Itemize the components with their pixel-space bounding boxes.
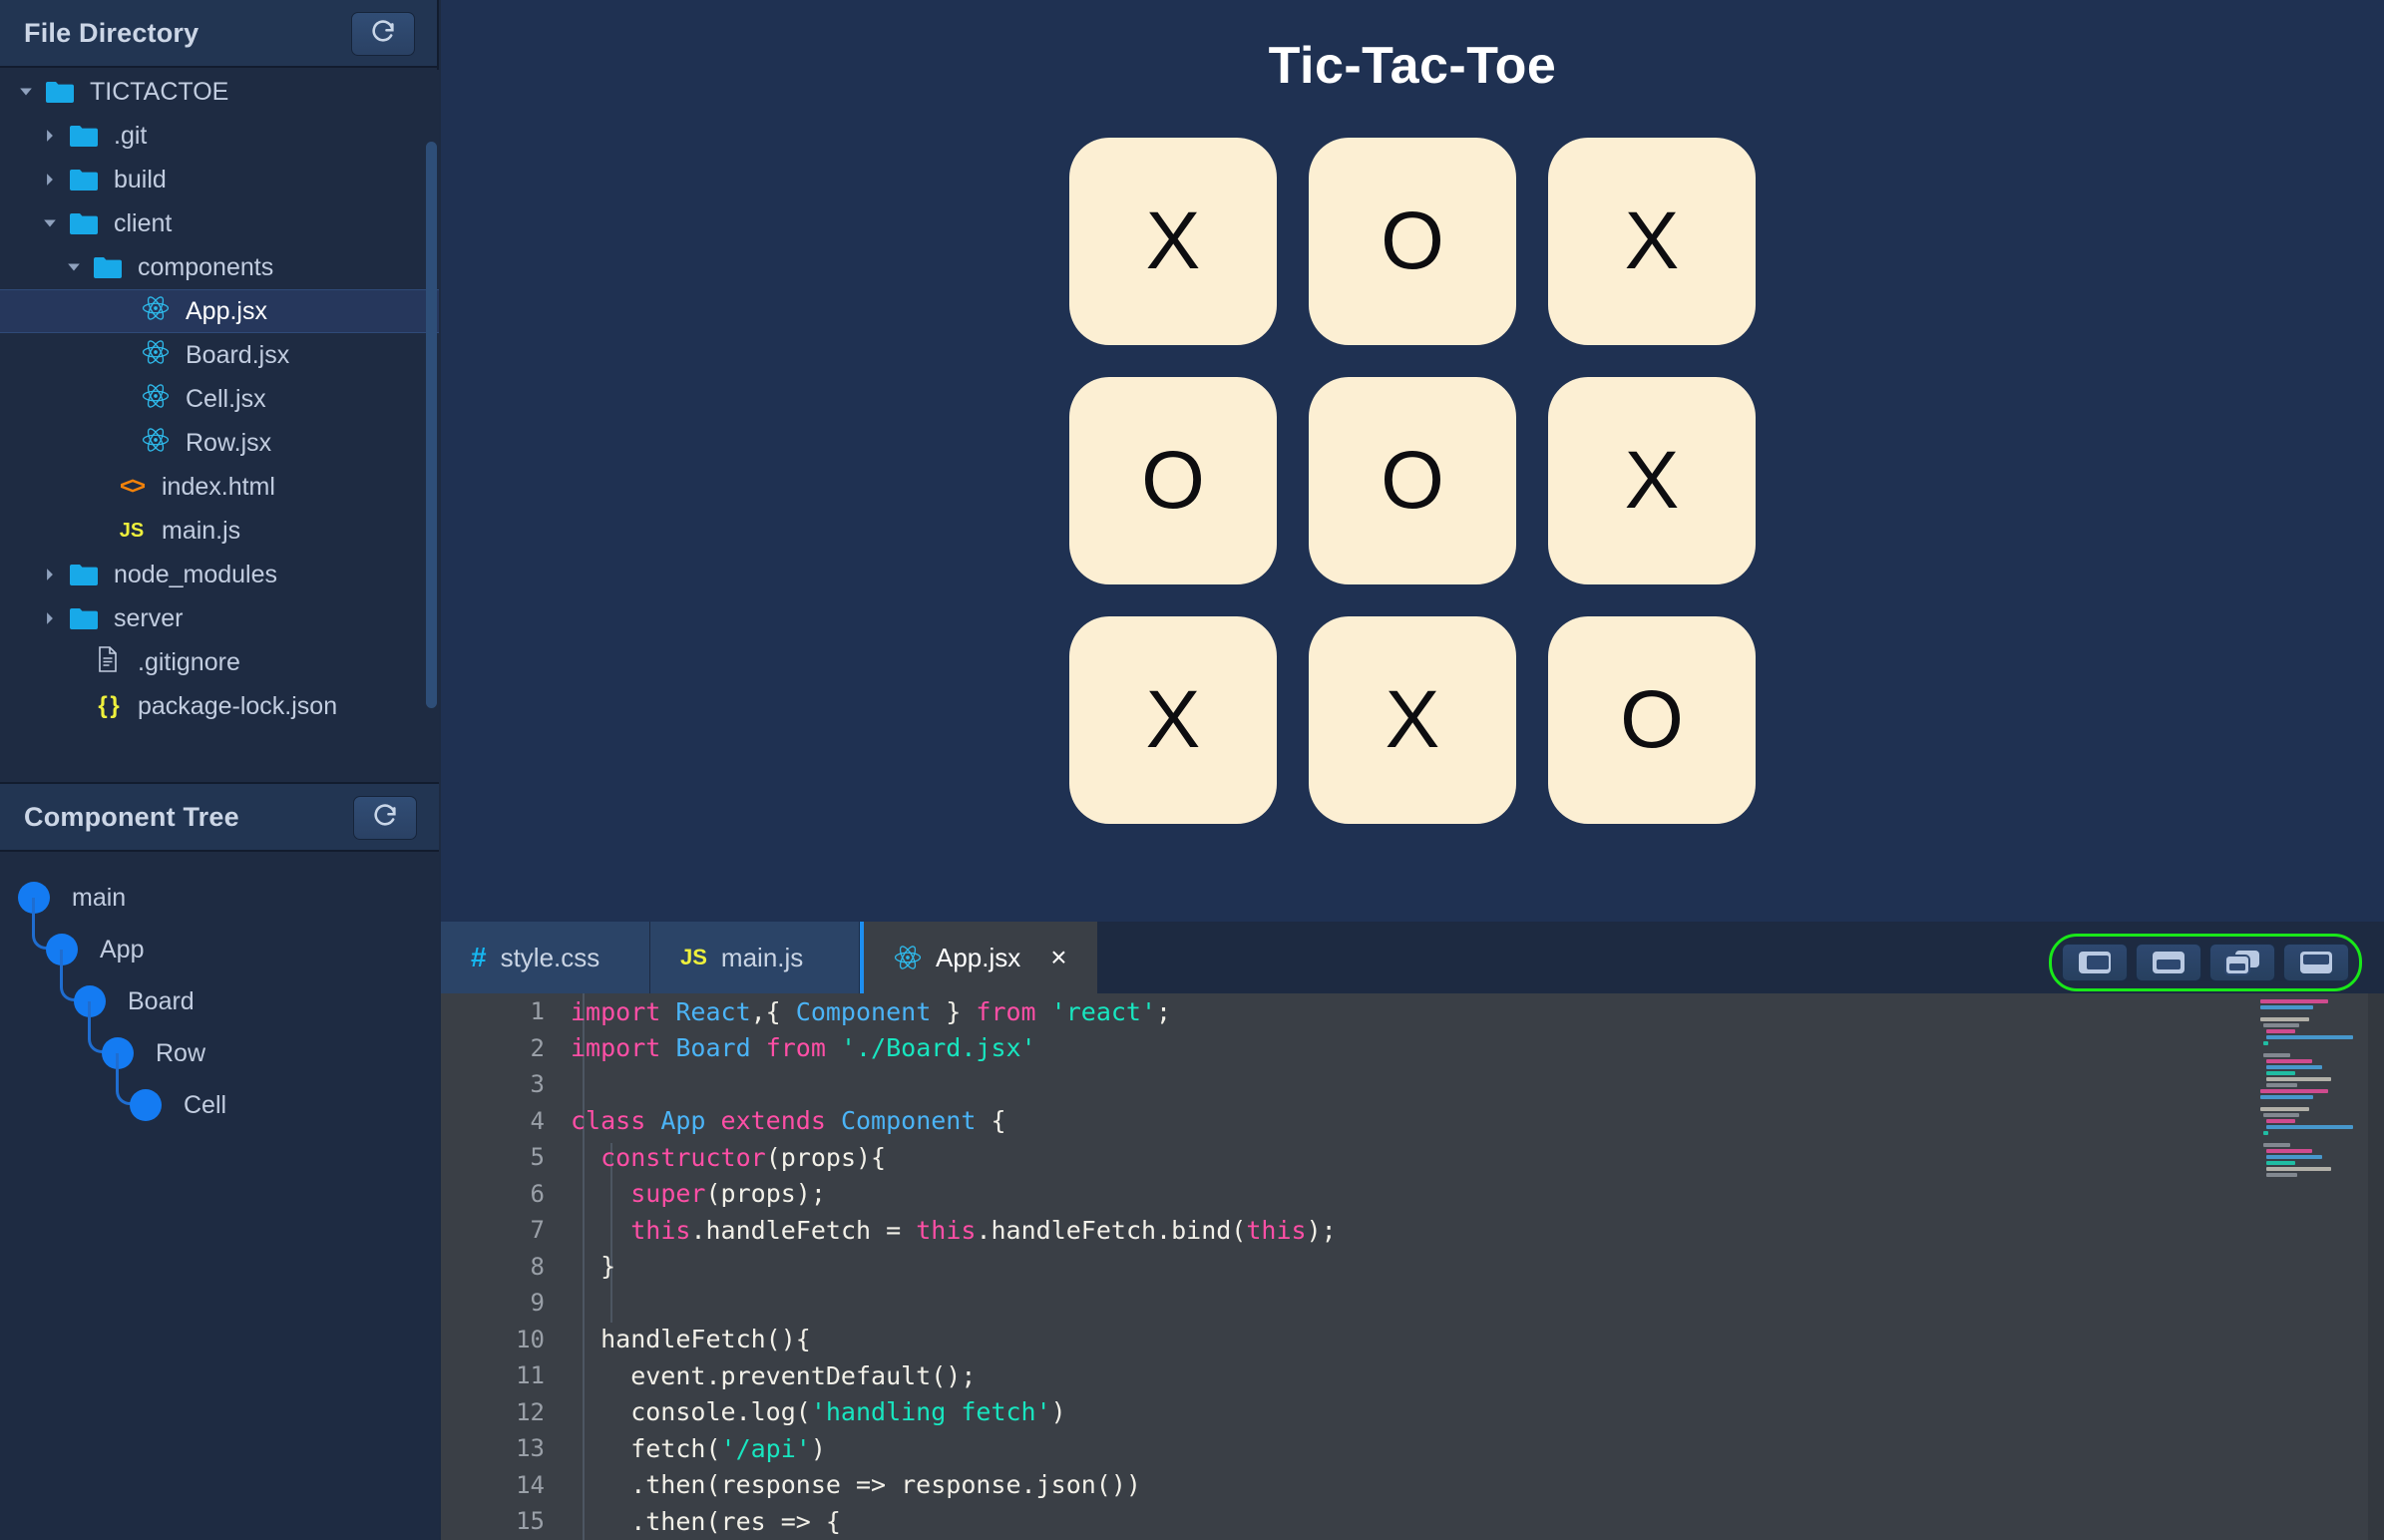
file-tree-item[interactable]: node_modules — [0, 553, 439, 596]
code-text: import Board from './Board.jsx' — [571, 1033, 1036, 1062]
node-dot-icon — [130, 1089, 162, 1121]
line-number: 12 — [441, 1398, 571, 1426]
code-text: console.log('handling fetch') — [571, 1397, 1066, 1426]
close-icon[interactable]: × — [1050, 942, 1066, 973]
refresh-icon — [369, 18, 397, 51]
code-text: import React,{ Component } from 'react'; — [571, 997, 1171, 1026]
component-tree-node-label: Board — [128, 987, 195, 1016]
code-line: 2import Board from './Board.jsx' — [441, 1030, 2384, 1067]
react-icon — [136, 339, 176, 372]
component-tree-node[interactable]: Cell — [130, 1089, 226, 1121]
chevron-right-icon[interactable] — [36, 129, 64, 143]
file-directory-title: File Directory — [24, 18, 199, 49]
code-text: super(props); — [571, 1179, 826, 1208]
file-tree-item[interactable]: server — [0, 596, 439, 640]
code-text: fetch('/api') — [571, 1434, 826, 1463]
board-cell[interactable]: O — [1069, 377, 1277, 584]
refresh-icon — [371, 802, 399, 835]
editor-tab-label: main.js — [721, 943, 803, 973]
line-number: 14 — [441, 1471, 571, 1499]
editor-tab-label: style.css — [501, 943, 600, 973]
code-line: 8 } — [441, 1249, 2384, 1286]
file-tree-item[interactable]: .git — [0, 114, 439, 158]
file-tree-item[interactable]: <>index.html — [0, 465, 439, 509]
folder-icon — [64, 212, 104, 234]
html-icon: <> — [112, 473, 152, 501]
file-tree-item[interactable]: components — [0, 245, 439, 289]
chevron-down-icon[interactable] — [12, 85, 40, 99]
layout-split-editor-icon[interactable] — [2209, 944, 2275, 981]
component-tree-panel: Component Tree mainAppBoardRowCell — [0, 782, 439, 1540]
code-text: } — [571, 1252, 615, 1281]
file-tree-item-label: App.jsx — [186, 297, 267, 326]
layout-buttons-group — [2049, 934, 2362, 991]
code-text: constructor(props){ — [571, 1143, 886, 1172]
file-tree-item-label: Row.jsx — [186, 429, 271, 458]
component-tree-node-label: Row — [156, 1039, 205, 1068]
code-text: .then(res => { — [571, 1507, 841, 1536]
file-tree-item-label: main.js — [162, 517, 240, 546]
code-scrollbar[interactable] — [2368, 993, 2384, 1540]
file-tree-scrollbar[interactable] — [426, 142, 437, 708]
chevron-right-icon[interactable] — [36, 568, 64, 581]
chevron-down-icon[interactable] — [60, 260, 88, 274]
line-number: 15 — [441, 1507, 571, 1535]
code-editor-pane: #style.cssJSmain.jsApp.jsx× — [441, 922, 2384, 1540]
file-tree-item-label: TICTACTOE — [90, 78, 228, 107]
file-tree-item-label: components — [138, 253, 273, 282]
code-line: 10 handleFetch(){ — [441, 1322, 2384, 1358]
component-tree-node-label: Cell — [184, 1091, 226, 1120]
board-cell[interactable]: O — [1548, 616, 1756, 824]
board-cell[interactable]: X — [1309, 616, 1516, 824]
code-text: .then(response => response.json()) — [571, 1470, 1141, 1499]
editor-tab-bar: #style.cssJSmain.jsApp.jsx× — [441, 922, 2384, 993]
editor-tab[interactable]: #style.css — [441, 922, 650, 993]
file-tree-item[interactable]: .gitignore — [0, 640, 439, 684]
code-line: 5 constructor(props){ — [441, 1139, 2384, 1176]
component-tree-node-label: App — [100, 936, 144, 964]
component-tree-graph: mainAppBoardRowCell — [0, 852, 439, 1540]
file-tree-item-label: client — [114, 209, 172, 238]
code-text: handleFetch(){ — [571, 1325, 811, 1353]
code-line: 14 .then(response => response.json()) — [441, 1467, 2384, 1504]
react-icon — [136, 427, 176, 460]
file-tree-item-label: index.html — [162, 473, 275, 502]
chevron-down-icon[interactable] — [36, 216, 64, 230]
editor-tab[interactable]: JSmain.js — [650, 922, 860, 993]
code-line: 4class App extends Component { — [441, 1103, 2384, 1140]
file-tree-item[interactable]: Row.jsx — [0, 421, 439, 465]
file-tree-item[interactable]: Cell.jsx — [0, 377, 439, 421]
code-text: this.handleFetch = this.handleFetch.bind… — [571, 1216, 1337, 1245]
file-directory-refresh-button[interactable] — [351, 12, 415, 56]
chevron-right-icon[interactable] — [36, 611, 64, 625]
code-line: 12 console.log('handling fetch') — [441, 1394, 2384, 1431]
file-tree-item[interactable]: App.jsx — [0, 289, 439, 333]
line-number: 7 — [441, 1216, 571, 1244]
js-icon: JS — [680, 945, 707, 970]
file-directory-header: File Directory — [0, 0, 437, 68]
react-icon — [136, 295, 176, 328]
code-line: 7 this.handleFetch = this.handleFetch.bi… — [441, 1212, 2384, 1249]
chevron-right-icon[interactable] — [36, 173, 64, 187]
code-line: 11 event.preventDefault(); — [441, 1357, 2384, 1394]
left-sidebar: File Directory TICTACTOE.gitbuildclientc… — [0, 0, 439, 1540]
layout-panel-top-icon[interactable] — [2136, 944, 2201, 981]
line-number: 13 — [441, 1434, 571, 1462]
file-tree-item[interactable]: { }package-lock.json — [0, 684, 439, 728]
board-cell[interactable]: O — [1309, 138, 1516, 345]
code-line: 13 fetch('/api') — [441, 1430, 2384, 1467]
folder-icon — [88, 256, 128, 278]
board-cell[interactable]: X — [1548, 138, 1756, 345]
layout-panel-bottom-icon[interactable] — [2283, 944, 2349, 981]
editor-tab[interactable]: App.jsx× — [860, 922, 1097, 993]
line-number: 10 — [441, 1326, 571, 1353]
js-icon: JS — [112, 520, 152, 543]
folder-icon — [64, 564, 104, 585]
file-tree-item-label: server — [114, 604, 183, 633]
file-tree-item-label: Cell.jsx — [186, 385, 266, 414]
folder-icon — [40, 81, 80, 103]
file-tree-item[interactable]: Board.jsx — [0, 333, 439, 377]
board-cell[interactable]: X — [1069, 138, 1277, 345]
line-number: 11 — [441, 1361, 571, 1389]
file-tree-item[interactable]: JSmain.js — [0, 509, 439, 553]
file-tree-item-label: Board.jsx — [186, 341, 289, 370]
line-number: 1 — [441, 997, 571, 1025]
code-line: 3 — [441, 1066, 2384, 1103]
board-cell[interactable]: O — [1309, 377, 1516, 584]
file-tree-item-label: build — [114, 166, 167, 194]
code-line: 1import React,{ Component } from 'react'… — [441, 993, 2384, 1030]
code-line: 6 super(props); — [441, 1176, 2384, 1213]
line-number: 3 — [441, 1070, 571, 1098]
page-title: Tic-Tac-Toe — [441, 36, 2384, 96]
line-number: 8 — [441, 1253, 571, 1281]
folder-icon — [64, 169, 104, 191]
file-tree-item[interactable]: client — [0, 201, 439, 245]
folder-icon — [64, 607, 104, 629]
component-tree-title: Component Tree — [24, 802, 239, 833]
json-icon: { } — [88, 692, 128, 720]
file-tree[interactable]: TICTACTOE.gitbuildclientcomponentsApp.js… — [0, 70, 439, 782]
file-tree-item-label: .gitignore — [138, 648, 240, 677]
line-number: 6 — [441, 1180, 571, 1208]
react-icon — [894, 945, 922, 970]
code-text: event.preventDefault(); — [571, 1361, 976, 1390]
tic-tac-toe-board[interactable]: XOXOOXXXO — [1069, 138, 1756, 824]
code-viewport[interactable]: 1import React,{ Component } from 'react'… — [441, 993, 2384, 1540]
file-tree-item-label: package-lock.json — [138, 692, 337, 721]
file-tree-item[interactable]: TICTACTOE — [0, 70, 439, 114]
code-line: 9 — [441, 1285, 2384, 1322]
file-tree-item-label: .git — [114, 122, 147, 151]
line-number: 9 — [441, 1289, 571, 1317]
react-icon — [136, 383, 176, 416]
line-number: 4 — [441, 1107, 571, 1135]
editor-tab-label: App.jsx — [936, 943, 1020, 973]
layout-sidebar-left-icon[interactable] — [2062, 944, 2128, 981]
component-tree-refresh-button[interactable] — [353, 796, 417, 840]
file-tree-item[interactable]: build — [0, 158, 439, 201]
code-line: 15 .then(res => { — [441, 1503, 2384, 1540]
board-cell[interactable]: X — [1548, 377, 1756, 584]
hash-icon: # — [471, 942, 487, 973]
line-number: 5 — [441, 1143, 571, 1171]
component-tree-header: Component Tree — [0, 784, 439, 852]
board-cell[interactable]: X — [1069, 616, 1277, 824]
file-icon — [88, 646, 128, 679]
line-number: 2 — [441, 1034, 571, 1062]
code-text: class App extends Component { — [571, 1106, 1006, 1135]
component-tree-node-label: main — [72, 884, 126, 913]
app-preview-pane: Tic-Tac-Toe XOXOOXXXO — [441, 0, 2384, 922]
file-tree-item-label: node_modules — [114, 561, 277, 589]
folder-icon — [64, 125, 104, 147]
